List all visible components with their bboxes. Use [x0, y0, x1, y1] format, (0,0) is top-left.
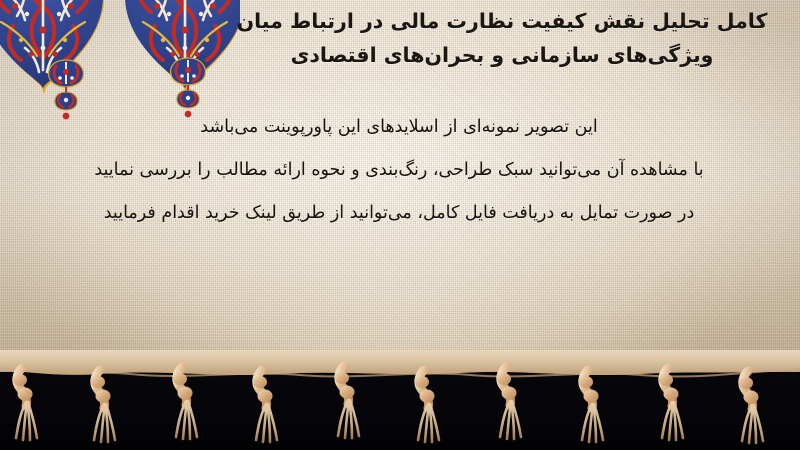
ornament-medallion-right — [81, 0, 240, 100]
tassel — [415, 370, 439, 442]
slide-body-line-1: این تصویر نمونه‌ای از اسلایدهای این پاور… — [14, 106, 784, 149]
slide-canvas: کامل تحلیل نقش کیفیت نظارت مالی در ارتبا… — [0, 0, 800, 450]
tassel — [579, 370, 603, 442]
slide-title-line-1: کامل تحلیل نقش کیفیت نظارت مالی در ارتبا… — [228, 4, 776, 38]
fringe-band — [0, 350, 800, 450]
tassel — [13, 368, 37, 440]
slide-body: این تصویر نمونه‌ای از اسلایدهای این پاور… — [14, 106, 784, 235]
pendant-upper-left — [49, 60, 84, 87]
slide-title-line-2: ویژگی‌های سازمانی و بحران‌های اقتصادی — [228, 38, 776, 72]
ornament-group — [0, 0, 240, 120]
tassel-group — [13, 366, 763, 443]
tassel — [253, 370, 277, 442]
tassel — [91, 370, 115, 442]
slide-body-line-3: در صورت تمایل به دریافت فایل کامل، می‌تو… — [14, 192, 784, 235]
slide-title: کامل تحلیل نقش کیفیت نظارت مالی در ارتبا… — [228, 4, 776, 72]
tassel — [739, 371, 763, 443]
pendant-upper-right — [171, 58, 206, 85]
tassel — [659, 368, 683, 440]
rug-selvedge-edge — [0, 350, 800, 375]
tassel — [173, 367, 197, 439]
tassel — [497, 367, 521, 439]
ornament-svg — [0, 0, 240, 120]
slide-body-line-2: با مشاهده آن می‌توانید سبک طراحی، رنگ‌بن… — [14, 149, 784, 192]
fringe-svg — [0, 350, 800, 450]
